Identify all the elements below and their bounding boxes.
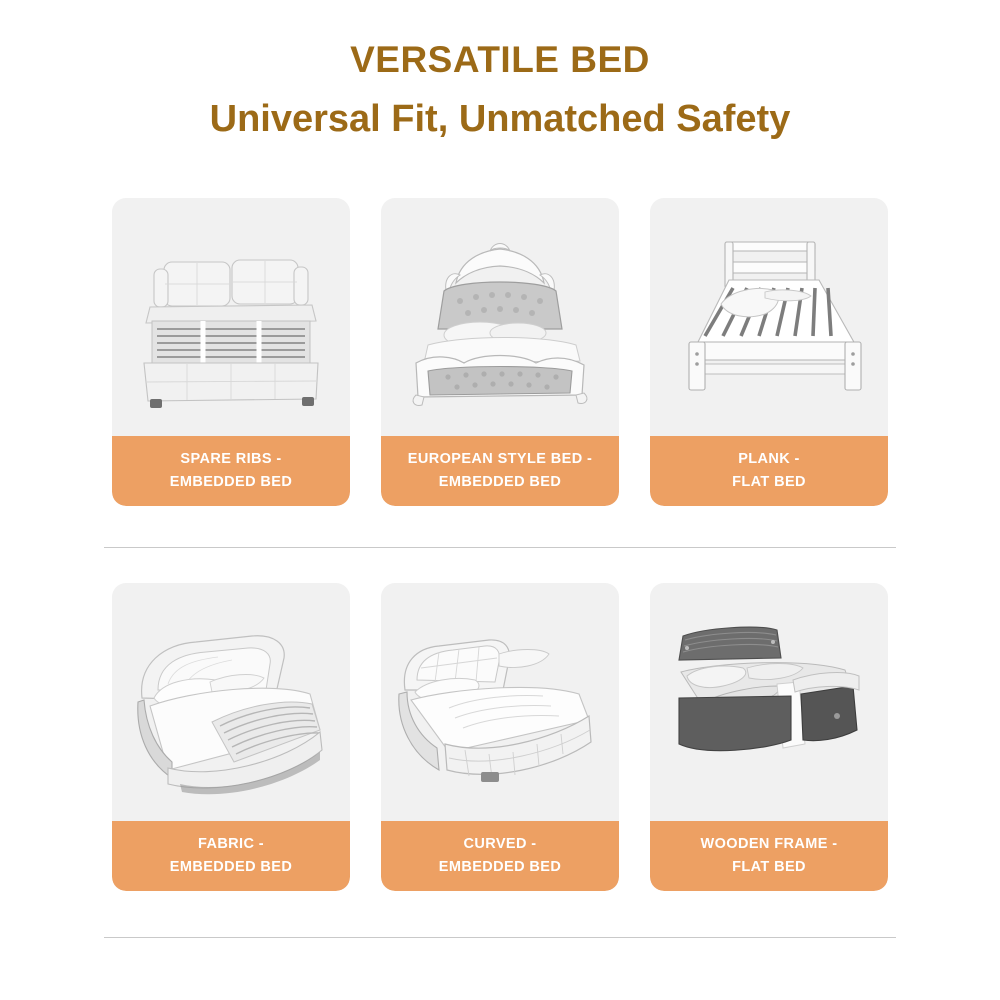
bed-card-plank[interactable]: PLANK - FLAT BED xyxy=(650,198,888,506)
bed-card-label: EUROPEAN STYLE BED - EMBEDDED BED xyxy=(381,436,619,506)
bed-card-row-2: FABRIC - EMBEDDED BED xyxy=(112,583,888,891)
bed-label-line-2: EMBEDDED BED xyxy=(387,856,613,878)
bed-card-wooden-frame[interactable]: WOODEN FRAME - FLAT BED xyxy=(650,583,888,891)
wooden-frame-flat-bed-photo xyxy=(650,583,888,821)
bed-label-line-2: EMBEDDED BED xyxy=(118,856,344,878)
page-title: VERSATILE BED xyxy=(0,40,1000,81)
bed-card-label: WOODEN FRAME - FLAT BED xyxy=(650,821,888,891)
fabric-embedded-bed-photo xyxy=(112,583,350,821)
spare-ribs-embedded-bed-photo xyxy=(112,198,350,436)
bed-card-label: PLANK - FLAT BED xyxy=(650,436,888,506)
curved-embedded-bed-photo xyxy=(381,583,619,821)
bed-label-line-2: FLAT BED xyxy=(656,856,882,878)
bed-card-fabric[interactable]: FABRIC - EMBEDDED BED xyxy=(112,583,350,891)
plank-flat-bed-photo xyxy=(650,198,888,436)
bed-card-curved[interactable]: CURVED - EMBEDDED BED xyxy=(381,583,619,891)
bed-label-line-2: EMBEDDED BED xyxy=(387,471,613,493)
european-style-bed-embedded-bed-photo xyxy=(381,198,619,436)
bed-card-european-style[interactable]: EUROPEAN STYLE BED - EMBEDDED BED xyxy=(381,198,619,506)
bed-label-line-1: PLANK - xyxy=(738,451,800,467)
bed-card-spare-ribs[interactable]: SPARE RIBS - EMBEDDED BED xyxy=(112,198,350,506)
bed-label-line-1: WOODEN FRAME - xyxy=(701,836,838,852)
bed-card-row-1: SPARE RIBS - EMBEDDED BED xyxy=(112,198,888,506)
bed-label-line-1: EUROPEAN STYLE BED - xyxy=(408,451,592,467)
bed-label-line-2: EMBEDDED BED xyxy=(118,471,344,493)
bed-label-line-1: CURVED - xyxy=(463,836,536,852)
bed-types-infographic: VERSATILE BED Universal Fit, Unmatched S… xyxy=(0,0,1000,1000)
bed-label-line-1: FABRIC - xyxy=(198,836,264,852)
section-divider-top xyxy=(104,547,896,548)
bed-card-label: CURVED - EMBEDDED BED xyxy=(381,821,619,891)
bed-card-label: SPARE RIBS - EMBEDDED BED xyxy=(112,436,350,506)
bed-label-line-1: SPARE RIBS - xyxy=(180,451,281,467)
bed-card-label: FABRIC - EMBEDDED BED xyxy=(112,821,350,891)
page-subtitle: Universal Fit, Unmatched Safety xyxy=(0,99,1000,141)
section-divider-bottom xyxy=(104,937,896,938)
header: VERSATILE BED Universal Fit, Unmatched S… xyxy=(0,0,1000,140)
bed-label-line-2: FLAT BED xyxy=(656,471,882,493)
